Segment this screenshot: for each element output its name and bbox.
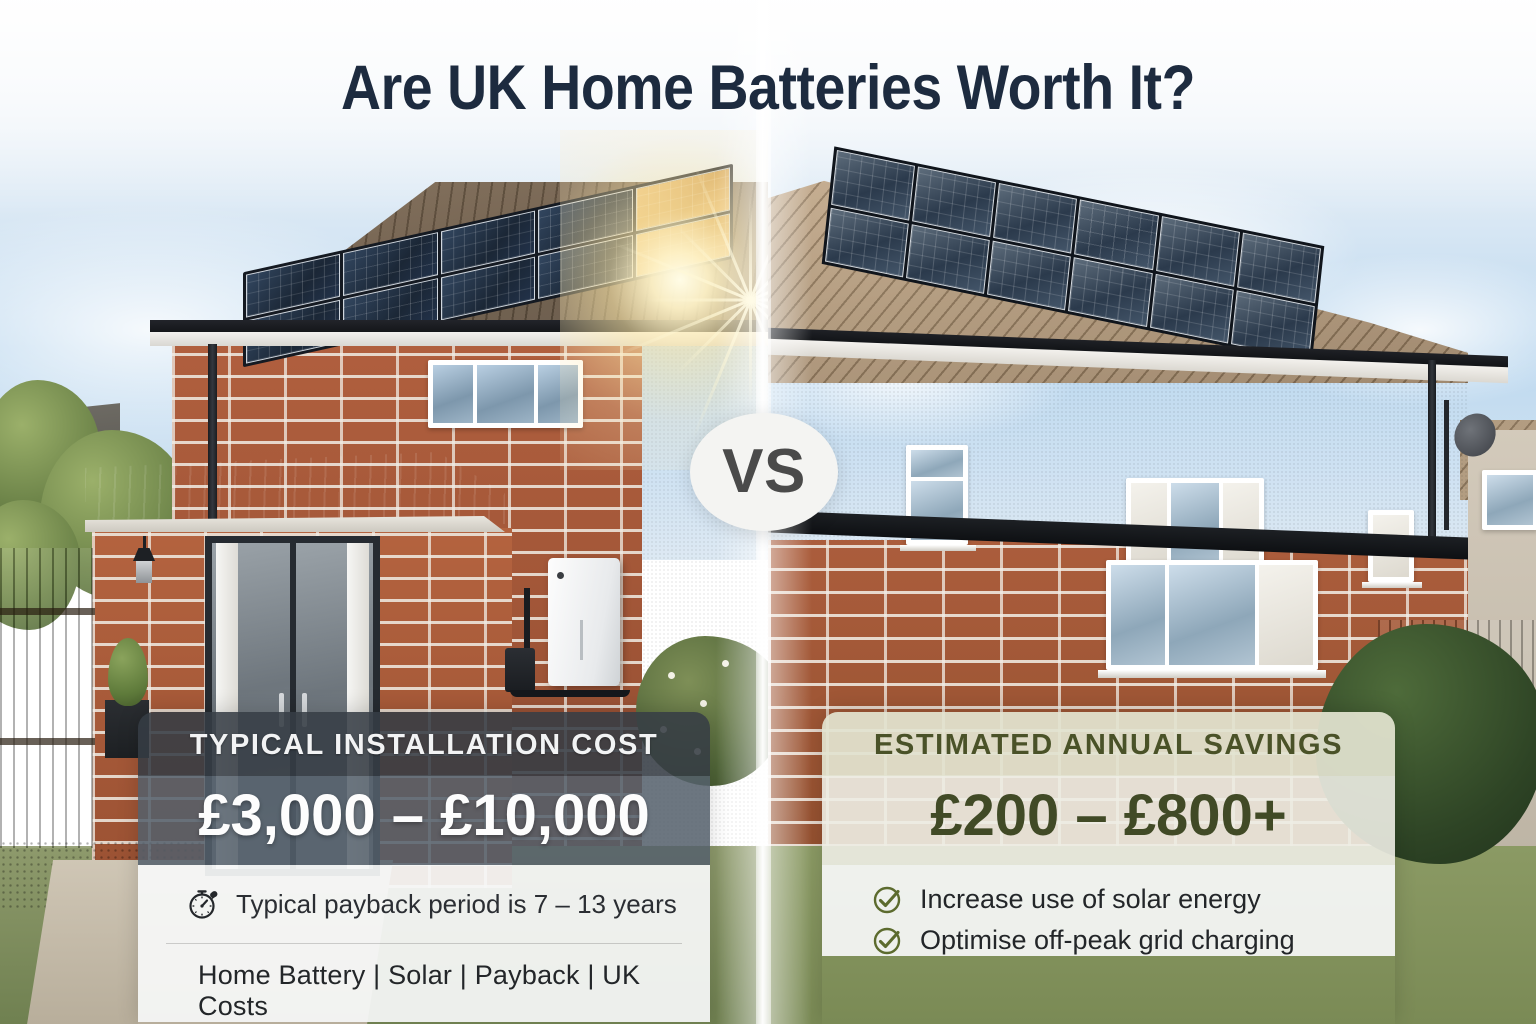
window-pane bbox=[1223, 483, 1259, 565]
annual-savings-heading: ESTIMATED ANNUAL SAVINGS bbox=[822, 712, 1395, 776]
vs-badge-label: VS bbox=[722, 441, 806, 503]
installation-cost-value: £3,000 – £10,000 bbox=[138, 776, 710, 865]
battery-junction-box bbox=[505, 648, 535, 692]
window-pane bbox=[1171, 483, 1218, 565]
satellite-dish-arm bbox=[1444, 400, 1449, 530]
flower bbox=[700, 700, 707, 707]
battery-led bbox=[557, 572, 564, 579]
window-sill bbox=[1098, 670, 1326, 678]
installation-cost-body: Typical payback period is 7 – 13 years H… bbox=[138, 865, 710, 1022]
upstairs-window-left bbox=[428, 360, 583, 428]
vs-badge: VS bbox=[690, 413, 838, 531]
annual-savings-body: Increase use of solar energy Optimise of… bbox=[822, 865, 1395, 956]
benefit-text: Increase use of solar energy bbox=[920, 884, 1261, 915]
benefits-list: Increase use of solar energy Optimise of… bbox=[822, 865, 1395, 956]
window-sill bbox=[1362, 582, 1422, 588]
wall-lamp-icon bbox=[133, 548, 155, 588]
window-pane bbox=[477, 365, 533, 423]
garden-fence-left bbox=[0, 548, 95, 848]
benefit-item: Optimise off-peak grid charging bbox=[872, 924, 1395, 956]
home-battery-unit bbox=[548, 558, 620, 686]
lamp-glass bbox=[136, 561, 152, 583]
upstairs-window-right-2 bbox=[1126, 478, 1264, 570]
fence-rail bbox=[0, 608, 95, 615]
window-pane bbox=[911, 450, 963, 477]
check-circle-icon bbox=[872, 883, 904, 915]
battery-vent-slot bbox=[580, 620, 583, 660]
payback-note-row: Typical payback period is 7 – 13 years bbox=[138, 865, 710, 921]
benefit-item: Increase use of solar energy bbox=[872, 883, 1395, 915]
window-pane bbox=[538, 365, 578, 423]
downstairs-window-right bbox=[1106, 560, 1318, 670]
installation-cost-card: TYPICAL INSTALLATION COST £3,000 – £10,0… bbox=[138, 712, 710, 1024]
lamp-hood bbox=[133, 548, 155, 561]
lamp-arm bbox=[143, 536, 146, 550]
roof-fascia-left bbox=[150, 320, 768, 332]
window-pane bbox=[1487, 475, 1533, 525]
window-pane bbox=[1169, 565, 1255, 665]
check-circle-icon bbox=[872, 924, 904, 956]
window-sill bbox=[900, 545, 976, 551]
infographic-canvas: VS Are UK Home Batteries Worth It? TYPIC… bbox=[0, 0, 1536, 1024]
topic-tags: Home Battery | Solar | Payback | UK Cost… bbox=[138, 944, 710, 1022]
annual-savings-value: £200 – £800+ bbox=[822, 776, 1395, 865]
downpipe-right bbox=[1428, 360, 1436, 550]
battery-cable bbox=[510, 690, 630, 697]
window-pane bbox=[433, 365, 473, 423]
benefit-text: Optimise off-peak grid charging bbox=[920, 925, 1295, 956]
stopwatch-icon bbox=[186, 887, 220, 921]
annual-savings-card: ESTIMATED ANNUAL SAVINGS £200 – £800+ In… bbox=[822, 712, 1395, 1024]
flower bbox=[668, 672, 675, 679]
roof-soffit-left bbox=[150, 332, 768, 346]
fence-rail bbox=[0, 738, 95, 745]
neighbour-window bbox=[1482, 470, 1536, 530]
installation-cost-heading: TYPICAL INSTALLATION COST bbox=[138, 712, 710, 776]
page-title: Are UK Home Batteries Worth It? bbox=[92, 52, 1444, 124]
payback-note-text: Typical payback period is 7 – 13 years bbox=[236, 889, 677, 920]
window-pane bbox=[1259, 565, 1313, 665]
window-pane bbox=[1111, 565, 1165, 665]
